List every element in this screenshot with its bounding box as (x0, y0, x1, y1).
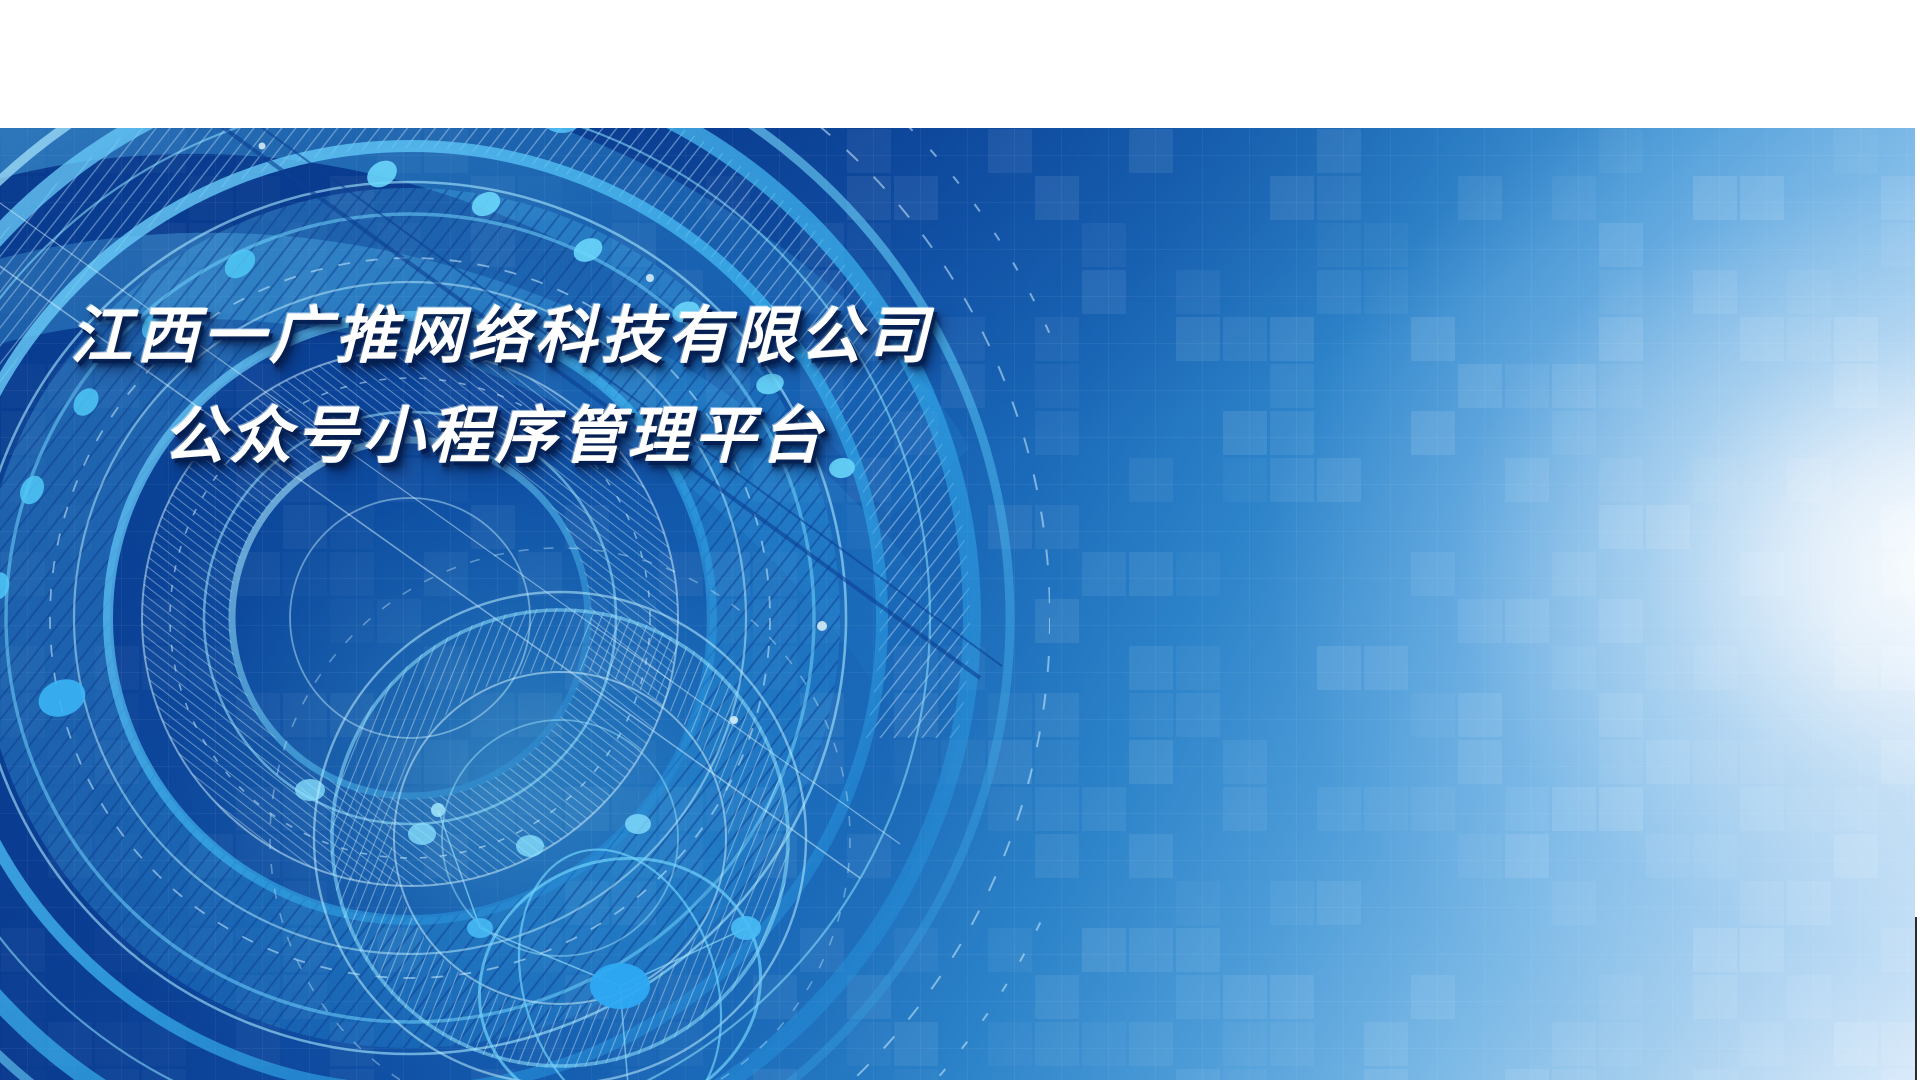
mosaic-tile (565, 881, 609, 925)
mosaic-tile (142, 646, 186, 690)
mosaic-tile (1599, 975, 1643, 1019)
mosaic-tile (1223, 740, 1267, 784)
mosaic-tile (1176, 1069, 1220, 1080)
mosaic-tile (236, 1022, 280, 1066)
mosaic-tile (1458, 740, 1502, 784)
mosaic-tile (142, 1022, 186, 1066)
mosaic-tile (612, 975, 656, 1019)
mosaic-tile (283, 834, 327, 878)
mosaic-tile (1, 364, 45, 408)
mosaic-tile (565, 787, 609, 831)
mosaic-tile (189, 552, 233, 596)
mosaic-tile (1740, 787, 1784, 831)
mosaic-tile (988, 740, 1032, 784)
mosaic-tile (1411, 787, 1455, 831)
mosaic-tile (95, 1069, 139, 1080)
mosaic-tile (1552, 411, 1596, 455)
mosaic-tile (1599, 505, 1643, 549)
mosaic-tile (894, 411, 938, 455)
mosaic-tile (518, 552, 562, 596)
mosaic-tile (1082, 928, 1126, 972)
mosaic-tile (1270, 881, 1314, 925)
mosaic-tile (142, 928, 186, 972)
mosaic-tile (612, 599, 656, 643)
mosaic-tile (1693, 975, 1737, 1019)
mosaic-tile (518, 928, 562, 972)
mosaic-tile (1552, 364, 1596, 408)
mosaic-tile (1, 552, 45, 596)
mosaic-tile (1035, 740, 1079, 784)
mosaic-tile (1787, 270, 1831, 314)
mosaic-tile (659, 552, 703, 596)
mosaic-tile (1, 129, 45, 173)
mosaic-tile (48, 129, 92, 173)
mosaic-tile (377, 740, 421, 784)
mosaic-tile (1176, 270, 1220, 314)
mosaic-tile (1693, 834, 1737, 878)
mosaic-tile (1881, 928, 1915, 972)
mosaic-tile (1693, 458, 1737, 502)
mosaic-tile (1787, 458, 1831, 502)
mosaic-tile (1176, 975, 1220, 1019)
mosaic-tile (800, 693, 844, 737)
mosaic-tile (847, 1022, 891, 1066)
mosaic-tile (424, 740, 468, 784)
mosaic-tile (659, 787, 703, 831)
mosaic-tile (1458, 834, 1502, 878)
mosaic-tile (518, 787, 562, 831)
mosaic-tile (612, 1022, 656, 1066)
mosaic-tile (1270, 364, 1314, 408)
mosaic-tile (1599, 129, 1643, 173)
mosaic-tile (1223, 317, 1267, 361)
mosaic-tile (95, 646, 139, 690)
mosaic-tile (1834, 787, 1878, 831)
mosaic-tile (1599, 364, 1643, 408)
mosaic-tile (1740, 881, 1784, 925)
mosaic-tile (1740, 1022, 1784, 1066)
mosaic-tile (1693, 646, 1737, 690)
mosaic-tile (424, 646, 468, 690)
mosaic-tile (1176, 552, 1220, 596)
mosaic-tile (1834, 1022, 1878, 1066)
mosaic-tile (1411, 411, 1455, 455)
mosaic-tile (941, 646, 985, 690)
mosaic-tile (1035, 411, 1079, 455)
mosaic-tile (95, 693, 139, 737)
mosaic-tile (330, 693, 374, 737)
mosaic-tile (236, 129, 280, 173)
page-root: 江西一广推网络科技有限公司 公众号小程序管理平台 (0, 0, 1920, 1080)
mosaic-tile (612, 646, 656, 690)
mosaic-tile (471, 176, 515, 220)
mosaic-tile (1129, 693, 1173, 737)
mosaic-tile (612, 1069, 656, 1080)
mosaic-tile (1834, 317, 1878, 361)
mosaic-tile (1646, 646, 1690, 690)
mosaic-tile (1740, 317, 1784, 361)
company-hero-banner: 江西一广推网络科技有限公司 公众号小程序管理平台 (0, 128, 1915, 1080)
mosaic-tile (1364, 270, 1408, 314)
mosaic-tile (1881, 1022, 1915, 1066)
mosaic-tile (1881, 1069, 1915, 1080)
mosaic-tile (1035, 693, 1079, 737)
platform-name-title: 公众号小程序管理平台 (163, 406, 826, 468)
mosaic-tile (1, 646, 45, 690)
mosaic-tile (1176, 317, 1220, 361)
mosaic-tile (471, 693, 515, 737)
mosaic-tile (330, 1022, 374, 1066)
mosaic-tile (1693, 740, 1737, 784)
mosaic-tile (1270, 458, 1314, 502)
mosaic-tile (1317, 223, 1361, 267)
mosaic-tile (988, 505, 1032, 549)
mosaic-tile (1599, 693, 1643, 737)
mosaic-tile (1881, 552, 1915, 596)
mosaic-tile (1505, 834, 1549, 878)
mosaic-tile (283, 787, 327, 831)
mosaic-tile (236, 693, 280, 737)
mosaic-tile (988, 129, 1032, 173)
mosaic-tile (330, 505, 374, 549)
mosaic-tile (1035, 317, 1079, 361)
mosaic-tile (1, 928, 45, 972)
mosaic-tile (1599, 223, 1643, 267)
mosaic-tile (142, 1069, 186, 1080)
mosaic-tile (1176, 693, 1220, 737)
mosaic-tile (847, 223, 891, 267)
mosaic-tile (1599, 787, 1643, 831)
mosaic-tile (706, 552, 750, 596)
mosaic-tile (1364, 646, 1408, 690)
mosaic-tile (48, 505, 92, 549)
mosaic-tile (1082, 1022, 1126, 1066)
mosaic-tile (800, 599, 844, 643)
mosaic-tile (1, 975, 45, 1019)
mosaic-tile (48, 740, 92, 784)
mosaic-tile (847, 505, 891, 549)
mosaic-tile (1599, 270, 1643, 314)
mosaic-tile (330, 1069, 374, 1080)
mosaic-tile (283, 928, 327, 972)
mosaic-tile (1129, 552, 1173, 596)
mosaic-tile (1035, 1022, 1079, 1066)
mosaic-tile (988, 1022, 1032, 1066)
mosaic-tile (1176, 646, 1220, 690)
mosaic-tile (189, 223, 233, 267)
mosaic-tile (1, 1069, 45, 1080)
mosaic-tile (753, 599, 797, 643)
mosaic-tile (189, 881, 233, 925)
mosaic-tile (612, 834, 656, 878)
mosaic-tile (612, 223, 656, 267)
mosaic-tile (236, 975, 280, 1019)
mosaic-tile (1505, 458, 1549, 502)
mosaic-tile (236, 176, 280, 220)
mosaic-tile (612, 787, 656, 831)
mosaic-tile (189, 928, 233, 972)
mosaic-tile (847, 975, 891, 1019)
mosaic-tile (1317, 646, 1361, 690)
mosaic-tile (1035, 176, 1079, 220)
mosaic-tile (1364, 787, 1408, 831)
mosaic-tile (95, 1022, 139, 1066)
mosaic-tile (1035, 787, 1079, 831)
mosaic-tile (283, 881, 327, 925)
mosaic-tile (1, 411, 45, 455)
mosaic-tile (1317, 176, 1361, 220)
mosaic-tile (1881, 505, 1915, 549)
mosaic-tile (1270, 975, 1314, 1019)
mosaic-tile (1317, 787, 1361, 831)
mosaic-tile (753, 1069, 797, 1080)
mosaic-tile (565, 975, 609, 1019)
mosaic-tile (1223, 1022, 1267, 1066)
mosaic-tile (1787, 975, 1831, 1019)
mosaic-tile (1270, 317, 1314, 361)
mosaic-tile (424, 787, 468, 831)
mosaic-tile (1411, 693, 1455, 737)
mosaic-tile (1129, 458, 1173, 502)
mosaic-tile (753, 646, 797, 690)
mosaic-tile (1035, 599, 1079, 643)
mosaic-tile (1082, 552, 1126, 596)
mosaic-tile (941, 364, 985, 408)
mosaic-tile (1317, 881, 1361, 925)
mosaic-tile (1458, 599, 1502, 643)
mosaic-tile (1599, 317, 1643, 361)
mosaic-tile (1223, 411, 1267, 455)
mosaic-tile (471, 505, 515, 549)
mosaic-tile (1505, 1069, 1549, 1080)
mosaic-tile (377, 787, 421, 831)
mosaic-tile (706, 599, 750, 643)
mosaic-tile (1552, 1069, 1596, 1080)
mosaic-tile (941, 740, 985, 784)
mosaic-tile (753, 787, 797, 831)
mosaic-tile (95, 740, 139, 784)
mosaic-tile (1740, 176, 1784, 220)
mosaic-tile (424, 552, 468, 596)
mosaic-tile (1599, 458, 1643, 502)
mosaic-tile (95, 129, 139, 173)
mosaic-tile (1787, 881, 1831, 925)
mosaic-tile (1129, 646, 1173, 690)
mosaic-tile (1223, 1069, 1267, 1080)
mosaic-tile (236, 834, 280, 878)
mosaic-tile (1317, 270, 1361, 314)
mosaic-tile (1129, 834, 1173, 878)
mosaic-tile (706, 176, 750, 220)
mosaic-tile (95, 928, 139, 972)
mosaic-tile (1176, 881, 1220, 925)
mosaic-tile (1129, 928, 1173, 972)
mosaic-tile (377, 223, 421, 267)
mosaic-tile (1505, 599, 1549, 643)
mosaic-tile (1740, 552, 1784, 596)
mosaic-tile (706, 787, 750, 831)
mosaic-tile (847, 129, 891, 173)
mosaic-tile (236, 787, 280, 831)
mosaic-tile (1458, 364, 1502, 408)
mosaic-tile (1, 176, 45, 220)
mosaic-tile (1881, 176, 1915, 220)
mosaic-tile (424, 129, 468, 173)
mosaic-tile (1129, 740, 1173, 784)
mosaic-tile (1646, 505, 1690, 549)
mosaic-tile (1881, 646, 1915, 690)
mosaic-tile (1740, 740, 1784, 784)
mosaic-tile (1693, 928, 1737, 972)
mosaic-tile (659, 975, 703, 1019)
mosaic-tile (1411, 317, 1455, 361)
mosaic-tile (1834, 834, 1878, 878)
mosaic-tile (1599, 740, 1643, 784)
mosaic-tile (1552, 787, 1596, 831)
mosaic-tile (1834, 364, 1878, 408)
mosaic-tile (1223, 787, 1267, 831)
mosaic-tile (753, 975, 797, 1019)
mosaic-tile (988, 787, 1032, 831)
mosaic-tile (330, 552, 374, 596)
mosaic-tile (1364, 1069, 1408, 1080)
mosaic-tile (1881, 740, 1915, 784)
mosaic-tile (1082, 223, 1126, 267)
mosaic-tile (894, 646, 938, 690)
mosaic-tile (1881, 223, 1915, 267)
mosaic-tile (1411, 552, 1455, 596)
mosaic-tile (1646, 740, 1690, 784)
mosaic-tile (1035, 975, 1079, 1019)
mosaic-tile (1082, 787, 1126, 831)
mosaic-tile (518, 1022, 562, 1066)
mosaic-tile (1552, 552, 1596, 596)
mosaic-tile (48, 787, 92, 831)
vertical-scrollbar[interactable] (1915, 917, 1917, 1080)
mosaic-tile (236, 928, 280, 972)
mosaic-tile (283, 975, 327, 1019)
mosaic-tile (283, 552, 327, 596)
mosaic-tile (1552, 1022, 1596, 1066)
mosaic-tile (612, 740, 656, 784)
mosaic-tile (48, 1022, 92, 1066)
square-mosaic-pattern (0, 128, 1915, 1080)
mosaic-tile (1834, 599, 1878, 643)
mosaic-tile (1693, 270, 1737, 314)
mosaic-tile (283, 693, 327, 737)
mosaic-tile (189, 176, 233, 220)
mosaic-tile (330, 599, 374, 643)
top-white-band (0, 0, 1920, 128)
mosaic-tile (1364, 1022, 1408, 1066)
mosaic-tile (1270, 176, 1314, 220)
mosaic-tile (1317, 458, 1361, 502)
mosaic-tile (1082, 270, 1126, 314)
mosaic-tile (142, 223, 186, 267)
mosaic-tile (1035, 834, 1079, 878)
mosaic-tile (1740, 928, 1784, 972)
mosaic-tile (1505, 787, 1549, 831)
mosaic-tile (189, 646, 233, 690)
mosaic-tile (847, 176, 891, 220)
mosaic-tile (612, 881, 656, 925)
mosaic-tile (1317, 129, 1361, 173)
mosaic-tile (753, 552, 797, 596)
mosaic-tile (612, 176, 656, 220)
mosaic-tile (1787, 787, 1831, 831)
mosaic-tile (1, 693, 45, 737)
mosaic-tile (142, 129, 186, 173)
mosaic-tile (847, 834, 891, 878)
mosaic-tile (1552, 176, 1596, 220)
mosaic-tile (424, 834, 468, 878)
mosaic-tile (189, 834, 233, 878)
mosaic-tile (518, 176, 562, 220)
mosaic-tile (1, 270, 45, 314)
mosaic-tile (565, 599, 609, 643)
mosaic-tile (471, 787, 515, 831)
mosaic-tile (1834, 646, 1878, 690)
mosaic-tile (1693, 1069, 1737, 1080)
mosaic-tile (800, 740, 844, 784)
mosaic-tile (377, 928, 421, 972)
mosaic-tile (1270, 411, 1314, 455)
mosaic-tile (377, 599, 421, 643)
mosaic-tile (377, 129, 421, 173)
mosaic-tile (518, 693, 562, 737)
mosaic-tile (1458, 176, 1502, 220)
mosaic-tile (236, 552, 280, 596)
mosaic-tile (1129, 1022, 1173, 1066)
mosaic-tile (988, 928, 1032, 972)
mosaic-tile (283, 223, 327, 267)
mosaic-tile (1599, 599, 1643, 643)
mosaic-tile (283, 505, 327, 549)
mosaic-tile (1411, 975, 1455, 1019)
mosaic-tile (1505, 364, 1549, 408)
mosaic-tile (1223, 458, 1267, 502)
mosaic-tile (1599, 1022, 1643, 1066)
mosaic-tile (941, 317, 985, 361)
mosaic-tile (330, 176, 374, 220)
mosaic-tile (565, 646, 609, 690)
mosaic-tile (1035, 505, 1079, 549)
mosaic-tile (283, 740, 327, 784)
mosaic-tile (894, 1069, 938, 1080)
mosaic-tile (565, 928, 609, 972)
mosaic-tile (894, 1022, 938, 1066)
mosaic-tile (894, 928, 938, 972)
mosaic-tile (471, 223, 515, 267)
mosaic-tile (1176, 928, 1220, 972)
mosaic-tile (1, 458, 45, 502)
mosaic-tile (1035, 364, 1079, 408)
mosaic-tile (1129, 129, 1173, 173)
mosaic-tile (1364, 223, 1408, 267)
mosaic-tile (1223, 975, 1267, 1019)
mosaic-tile (800, 928, 844, 972)
mosaic-tile (48, 834, 92, 878)
mosaic-tile (1787, 317, 1831, 361)
mosaic-tile (1834, 129, 1878, 173)
mosaic-tile (988, 693, 1032, 737)
mosaic-tile (142, 599, 186, 643)
mosaic-tile (894, 693, 938, 737)
mosaic-tile (800, 223, 844, 267)
mosaic-tile (847, 458, 891, 502)
mosaic-tile (659, 834, 703, 878)
mosaic-tile (471, 1069, 515, 1080)
